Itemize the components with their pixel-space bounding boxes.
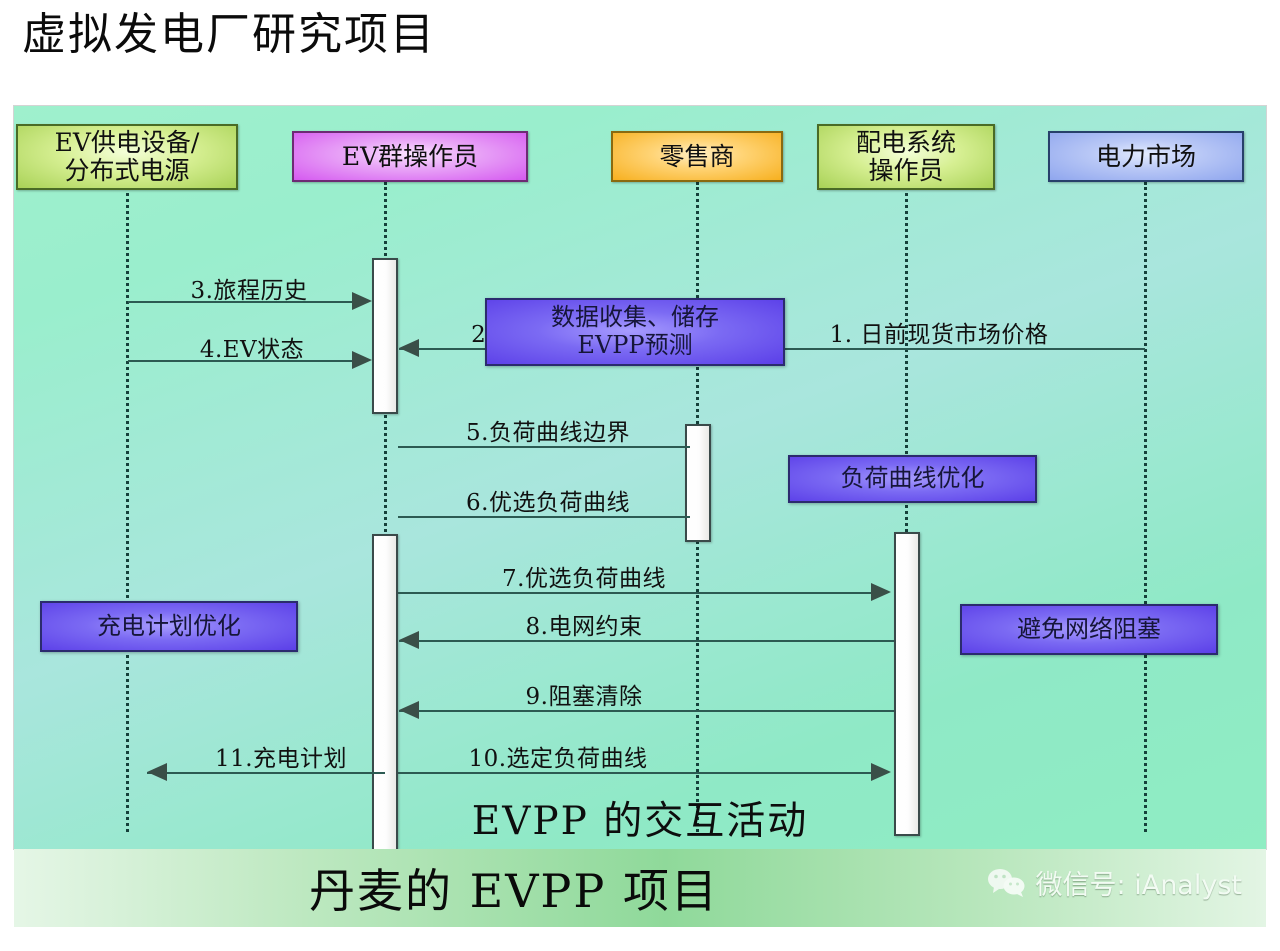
footer-strip <box>0 927 1280 951</box>
actor-retailer[interactable]: 零售商 <box>611 131 783 182</box>
note-avoid-congestion: 避免网络阻塞 <box>960 604 1218 655</box>
bottom-banner: 丹麦的 EVPP 项目 微信号: iAnalyst <box>14 849 1266 927</box>
wechat-label: 微信号: iAnalyst <box>1036 863 1242 902</box>
activation-evgo-1 <box>372 258 398 414</box>
message-label-7: 7.优选负荷曲线 <box>454 559 714 593</box>
message-label-1: 1. 日前现货市场价格 <box>774 315 1104 349</box>
message-arrow-3 <box>352 292 372 310</box>
actor-market[interactable]: 电力市场 <box>1048 131 1244 182</box>
message-label-8: 8.电网约束 <box>474 607 694 641</box>
message-arrow-10 <box>871 763 891 781</box>
message-label-9: 9.阻塞清除 <box>474 677 694 711</box>
note-data-collection: 数据收集、储存 EVPP预测 <box>485 298 785 366</box>
message-arrow-8 <box>399 631 419 649</box>
wechat-watermark: 微信号: iAnalyst <box>987 863 1242 902</box>
message-label-5: 5.负荷曲线边界 <box>418 413 678 447</box>
lifeline-evse <box>126 182 129 832</box>
wechat-icon <box>987 867 1027 899</box>
diagram-caption: EVPP 的交互活动 <box>14 790 1266 846</box>
message-arrow-11 <box>147 763 167 781</box>
message-arrow-4 <box>352 351 372 369</box>
message-label-3: 3.旅程历史 <box>154 271 344 305</box>
activation-retailer-1 <box>685 424 711 542</box>
note-charge-plan-opt: 充电计划优化 <box>40 601 298 652</box>
lifeline-market <box>1144 182 1147 832</box>
actor-evgo[interactable]: EV群操作员 <box>292 131 528 182</box>
message-arrow-9 <box>399 701 419 719</box>
actor-dso[interactable]: 配电系统 操作员 <box>817 124 995 190</box>
sequence-diagram: EV供电设备/ 分布式电源 EV群操作员 零售商 配电系统 操作员 电力市场 1… <box>14 106 1266 849</box>
message-label-6: 6.优选负荷曲线 <box>418 483 678 517</box>
message-arrow-2 <box>399 339 419 357</box>
message-label-10: 10.选定负荷曲线 <box>418 739 698 773</box>
page-title: 虚拟发电厂研究项目 <box>22 12 436 58</box>
note-load-curve-opt: 负荷曲线优化 <box>788 455 1037 503</box>
banner-title: 丹麦的 EVPP 项目 <box>14 849 1014 927</box>
message-label-11: 11.充电计划 <box>181 739 381 773</box>
message-arrow-7 <box>871 583 891 601</box>
message-label-4: 4.EV状态 <box>157 330 347 364</box>
actor-evse[interactable]: EV供电设备/ 分布式电源 <box>16 124 238 190</box>
slide-root: 虚拟发电厂研究项目 EV供电设备/ 分布式电源 EV群操作员 零售商 配电系统 … <box>0 0 1280 951</box>
